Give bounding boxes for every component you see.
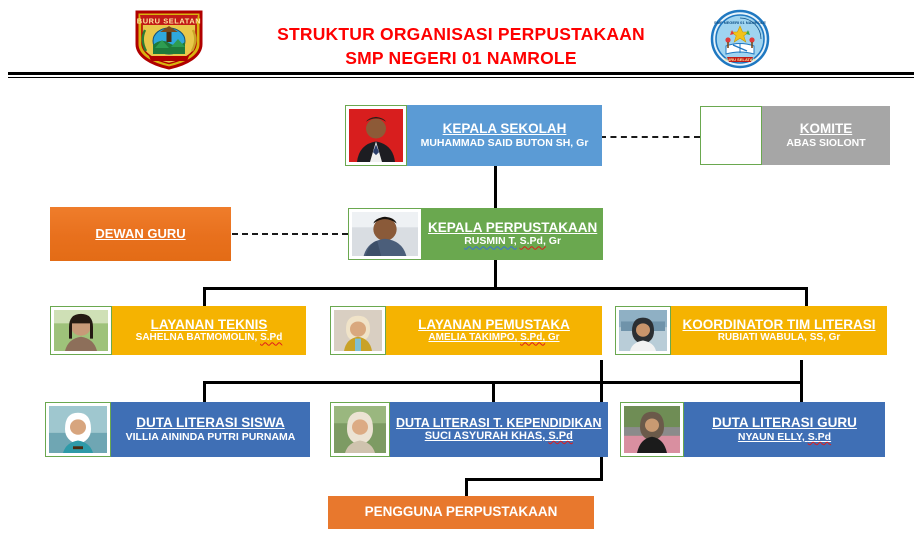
layanan-teknis-person: SAHELNA BATMOMOLIN, S.Pd xyxy=(136,332,283,344)
duta-literasi-guru-label: DUTA LITERASI GURU NYAUN ELLY, S.Pd xyxy=(684,402,885,457)
dewan-guru-role: DEWAN GURU xyxy=(95,227,185,242)
layanan-teknis-label: LAYANAN TEKNIS SAHELNA BATMOMOLIN, S.Pd xyxy=(112,306,306,355)
node-duta-literasi-tenaga-kependidikan[interactable]: DUTA LITERASI T. KEPENDIDIKAN SUCI ASYUR… xyxy=(330,402,595,457)
layanan-pemustaka-person: AMELIA TAKIMPO, S.Pd, Gr xyxy=(428,332,559,344)
koordinator-tim-literasi-person: RUBIATI WABULA, SS, Gr xyxy=(718,332,841,344)
connector-kepala-sekolah-to-kepala-perpustakaan xyxy=(494,166,497,210)
connector-kepala-sekolah-to-komite xyxy=(600,136,700,138)
duta-literasi-guru-person: NYAUN ELLY, S.Pd xyxy=(738,431,831,444)
duta-literasi-siswa-role: DUTA LITERASI SISWA xyxy=(136,415,285,431)
organizational-chart-page: BURU SELATAN STRUKTUR ORGANISASI PERPUST… xyxy=(0,0,922,559)
node-kepala-perpustakaan[interactable]: KEPALA PERPUSTAKAAN RUSMIN T, S.Pd, Gr xyxy=(348,208,600,260)
layanan-pemustaka-person-part-a: AMELIA TAKIMPO, xyxy=(428,332,517,343)
connector-tier3-horizontal-bar xyxy=(203,287,808,290)
kepala-sekolah-person: MUHAMMAD SAID BUTON SH, Gr xyxy=(421,137,589,150)
layanan-teknis-photo xyxy=(50,306,112,355)
layanan-teknis-role: LAYANAN TEKNIS xyxy=(151,317,268,333)
svg-text:BURU SELATAN: BURU SELATAN xyxy=(725,57,756,62)
komite-role: KOMITE xyxy=(800,121,853,137)
node-kepala-sekolah[interactable]: KEPALA SEKOLAH MUHAMMAD SAID BUTON SH, G… xyxy=(345,105,602,166)
connector-koordinator-drop xyxy=(600,360,603,383)
connector-tier3-right-drop xyxy=(805,287,808,306)
kepala-perpustakaan-person-part-c: Gr xyxy=(549,235,561,247)
kepala-perpustakaan-person: RUSMIN T, S.Pd, Gr xyxy=(464,235,561,248)
pengguna-perpustakaan-role: PENGGUNA PERPUSTAKAAN xyxy=(365,504,558,520)
duta-literasi-tenaga-kependidikan-person: SUCI ASYURAH KHAS, S.Pd xyxy=(425,430,573,443)
connector-to-pengguna-drop xyxy=(465,478,468,497)
layanan-pemustaka-role: LAYANAN PEMUSTAKA xyxy=(418,317,570,333)
dewan-guru-label: DEWAN GURU xyxy=(50,207,231,261)
layanan-teknis-person-part-b: S.Pd xyxy=(260,332,282,343)
connector-dewan-guru-to-kepala-perpustakaan xyxy=(232,233,348,235)
node-komite[interactable]: KOMITE ABAS SIOLONT xyxy=(700,106,890,165)
komite-label: KOMITE ABAS SIOLONT xyxy=(762,106,890,165)
duta-literasi-tenaga-kependidikan-person-part-b: S.Pd xyxy=(548,430,572,442)
title-line-1: STRUKTUR ORGANISASI PERPUSTAKAAN xyxy=(231,22,691,46)
layanan-pemustaka-photo xyxy=(330,306,386,355)
node-pengguna-perpustakaan[interactable]: PENGGUNA PERPUSTAKAAN xyxy=(328,496,594,529)
koordinator-tim-literasi-role: KOORDINATOR TIM LITERASI xyxy=(683,317,876,333)
komite-photo-placeholder xyxy=(700,106,762,165)
layanan-pemustaka-person-part-b: S.Pd, xyxy=(520,332,545,343)
duta-literasi-guru-person-part-b: S.Pd xyxy=(808,431,831,443)
connector-tier4-mid-drop xyxy=(492,381,495,403)
duta-literasi-siswa-person: VILLIA AININDA PUTRI PURNAMA xyxy=(126,431,296,444)
kepala-sekolah-label: KEPALA SEKOLAH MUHAMMAD SAID BUTON SH, G… xyxy=(407,105,602,166)
duta-literasi-guru-role: DUTA LITERASI GURU xyxy=(712,415,857,431)
node-layanan-pemustaka[interactable]: LAYANAN PEMUSTAKA AMELIA TAKIMPO, S.Pd, … xyxy=(330,306,602,355)
duta-literasi-guru-photo xyxy=(620,402,684,457)
kepala-sekolah-role: KEPALA SEKOLAH xyxy=(443,121,567,137)
node-layanan-teknis[interactable]: LAYANAN TEKNIS SAHELNA BATMOMOLIN, S.Pd xyxy=(50,306,306,355)
connector-tier3-left-drop xyxy=(203,287,206,306)
layanan-pemustaka-label: LAYANAN PEMUSTAKA AMELIA TAKIMPO, S.Pd, … xyxy=(386,306,602,355)
layanan-teknis-person-part-a: SAHELNA BATMOMOLIN, xyxy=(136,332,258,343)
kepala-perpustakaan-label: KEPALA PERPUSTAKAAN RUSMIN T, S.Pd, Gr xyxy=(422,208,603,260)
connector-to-pengguna-horizontal xyxy=(465,478,603,481)
node-duta-literasi-siswa[interactable]: DUTA LITERASI SISWA VILLIA AININDA PUTRI… xyxy=(45,402,310,457)
duta-literasi-siswa-label: DUTA LITERASI SISWA VILLIA AININDA PUTRI… xyxy=(111,402,310,457)
page-title: STRUKTUR ORGANISASI PERPUSTAKAAN SMP NEG… xyxy=(231,22,691,70)
duta-literasi-siswa-photo xyxy=(45,402,111,457)
pengguna-perpustakaan-label: PENGGUNA PERPUSTAKAAN xyxy=(328,496,594,529)
svg-text:SMP NEGERI 01 NAMROLE: SMP NEGERI 01 NAMROLE xyxy=(714,20,766,25)
connector-tier4-right-drop xyxy=(800,360,803,403)
duta-literasi-tenaga-kependidikan-role: DUTA LITERASI T. KEPENDIDIKAN xyxy=(396,416,602,430)
kepala-sekolah-photo xyxy=(345,105,407,166)
header-divider-thick xyxy=(8,72,914,75)
kepala-perpustakaan-person-part-a: RUSMIN T, xyxy=(464,235,517,247)
node-duta-literasi-guru[interactable]: DUTA LITERASI GURU NYAUN ELLY, S.Pd xyxy=(620,402,885,457)
header-divider-thin xyxy=(8,77,914,78)
duta-literasi-guru-person-part-a: NYAUN ELLY, xyxy=(738,431,805,443)
connector-tier4-horizontal-bar xyxy=(203,381,803,384)
kepala-perpustakaan-role: KEPALA PERPUSTAKAAN xyxy=(428,220,597,236)
connector-kepala-perpustakaan-drop xyxy=(494,260,497,288)
connector-tier4-left-drop xyxy=(203,381,206,403)
layanan-pemustaka-person-part-c: Gr xyxy=(548,332,560,343)
kepala-perpustakaan-photo xyxy=(348,208,422,260)
svg-text:BURU SELATAN: BURU SELATAN xyxy=(137,17,201,26)
kepala-perpustakaan-person-part-b: S.Pd, xyxy=(520,235,546,247)
komite-person: ABAS SIOLONT xyxy=(786,137,865,150)
duta-literasi-tenaga-kependidikan-label: DUTA LITERASI T. KEPENDIDIKAN SUCI ASYUR… xyxy=(390,402,608,457)
node-koordinator-tim-literasi[interactable]: KOORDINATOR TIM LITERASI RUBIATI WABULA,… xyxy=(615,306,887,355)
title-line-2: SMP NEGERI 01 NAMROLE xyxy=(231,46,691,70)
node-dewan-guru[interactable]: DEWAN GURU xyxy=(50,207,231,261)
duta-literasi-tenaga-kependidikan-photo xyxy=(330,402,390,457)
koordinator-tim-literasi-photo xyxy=(615,306,671,355)
buru-selatan-regency-emblem-icon: BURU SELATAN xyxy=(131,8,207,70)
koordinator-tim-literasi-label: KOORDINATOR TIM LITERASI RUBIATI WABULA,… xyxy=(671,306,887,355)
school-emblem-icon: SMP NEGERI 01 NAMROLE BURU SELATAN xyxy=(702,8,778,70)
duta-literasi-tenaga-kependidikan-person-part-a: SUCI ASYURAH KHAS, xyxy=(425,430,546,442)
